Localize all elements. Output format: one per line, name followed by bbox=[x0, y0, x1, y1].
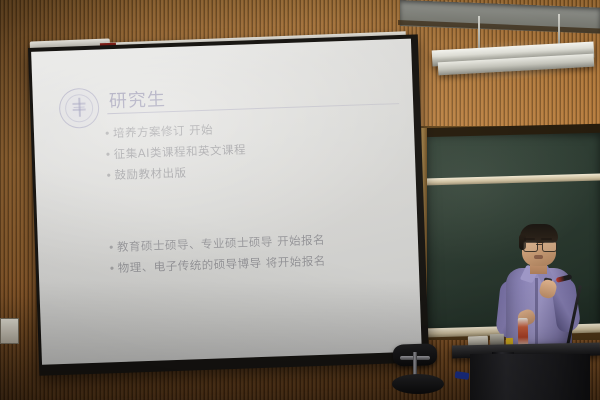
glasses-lens-right bbox=[542, 241, 557, 252]
list-item: • 征集AI类课程和英文课程 bbox=[105, 138, 405, 162]
eyebrow-left bbox=[524, 238, 535, 240]
slide-title: 研究生 bbox=[108, 85, 166, 113]
slide-bullet-list: • 培养方案修订 开始 • 征集AI类课程和英文课程 • 鼓励教材出版 bbox=[104, 117, 409, 283]
bullet-text: 物理、电子传统的硕导博导 将开始报名 bbox=[118, 255, 327, 276]
bullet-marker-icon: • bbox=[105, 170, 114, 181]
bullet-marker-icon: • bbox=[108, 242, 117, 253]
black-swivel-chair bbox=[392, 374, 444, 394]
lecture-hall-photo: 研究生 • 培养方案修订 开始 • 征集AI类课程和英文课程 • bbox=[0, 0, 600, 400]
bullet-marker-icon: • bbox=[105, 149, 114, 160]
presenter-mouth bbox=[534, 255, 543, 259]
logo-emblem-icon bbox=[71, 98, 87, 118]
projector-screen-assembly: 研究生 • 培养方案修订 开始 • 征集AI类课程和英文课程 • bbox=[18, 40, 424, 376]
list-item: • 培养方案修订 开始 bbox=[104, 117, 404, 141]
podium-body bbox=[470, 354, 590, 400]
university-seal-logo bbox=[58, 88, 99, 129]
projector-screen-border: 研究生 • 培养方案修订 开始 • 征集AI类课程和英文课程 • bbox=[28, 34, 429, 375]
bullet-marker-icon: • bbox=[104, 128, 113, 139]
list-item: • 鼓励教材出版 bbox=[105, 159, 405, 183]
wall-plaque bbox=[0, 318, 19, 344]
eyebrow-right bbox=[541, 238, 552, 240]
shirt-placket bbox=[535, 278, 538, 354]
glasses-lens-left bbox=[523, 241, 538, 252]
presentation-slide: 研究生 • 培养方案修订 开始 • 征集AI类课程和英文课程 • bbox=[31, 39, 422, 365]
bullet-marker-icon: • bbox=[109, 263, 118, 274]
projector-screen-surface: 研究生 • 培养方案修订 开始 • 征集AI类课程和英文课程 • bbox=[31, 39, 422, 365]
list-item: • 物理、电子传统的硕导博导 将开始报名 bbox=[109, 252, 409, 276]
bullet-text: 征集AI类课程和英文课程 bbox=[114, 143, 247, 161]
bullet-text: 鼓励教材出版 bbox=[114, 166, 186, 182]
bullet-text: 培养方案修订 开始 bbox=[113, 124, 214, 141]
glasses-icon bbox=[523, 241, 556, 250]
